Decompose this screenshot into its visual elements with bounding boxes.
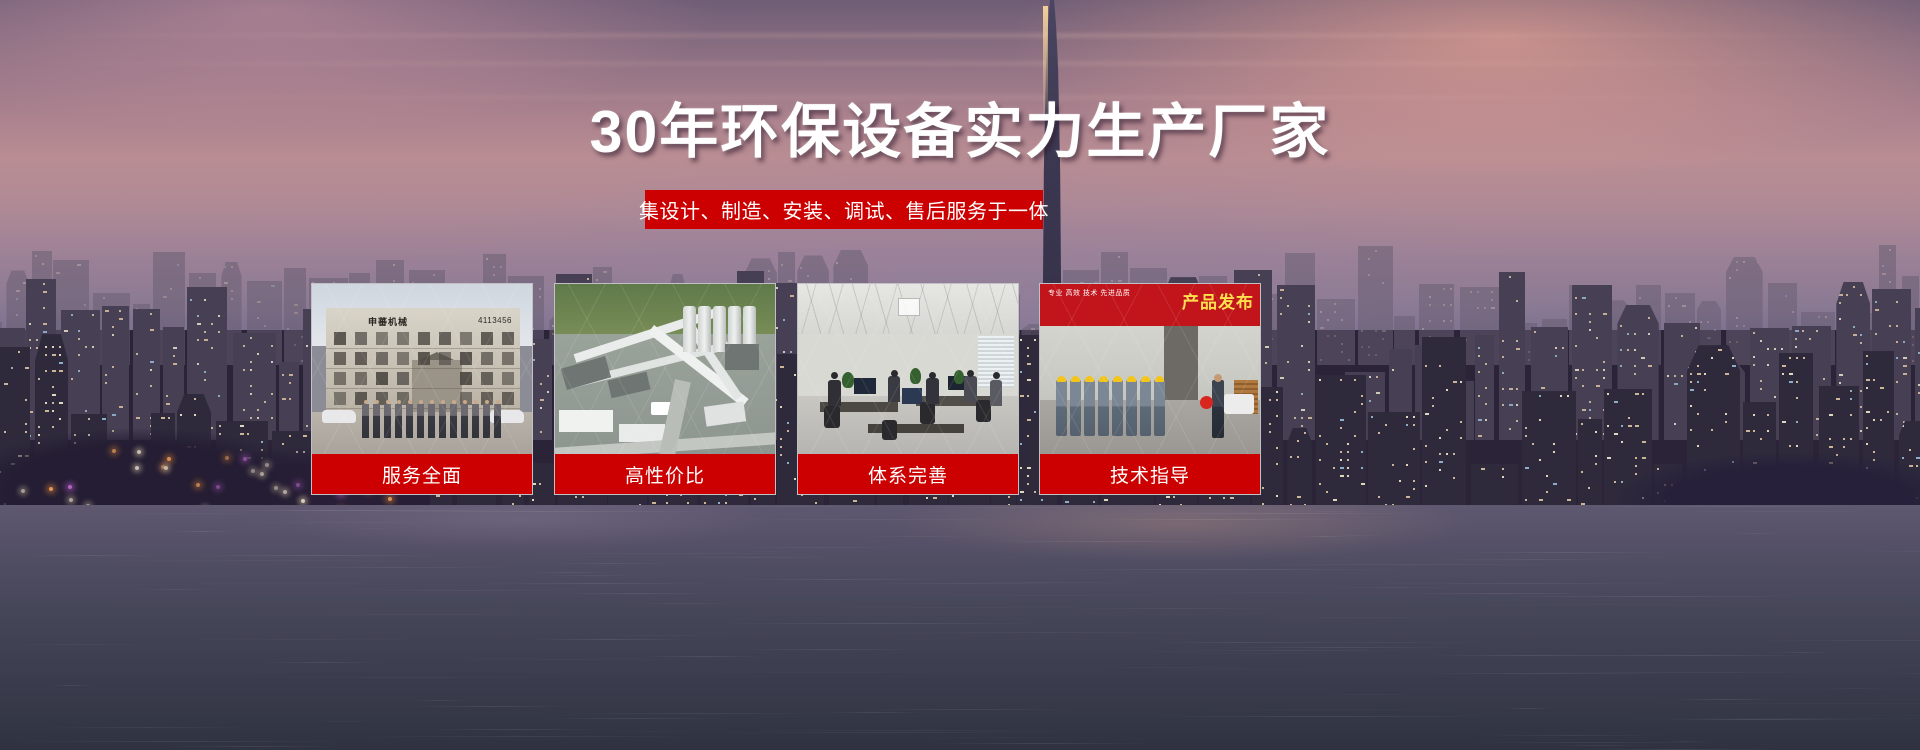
building-phone: 4113456: [478, 316, 512, 325]
feature-card-guidance[interactable]: 产品发布 专业 高效 技术 先进品质 技术指导: [1039, 283, 1261, 495]
card-label-text: 技术指导: [1110, 461, 1190, 488]
workshop-banner-text: 产品发布: [1182, 288, 1254, 313]
water-reflection-glow: [0, 505, 1920, 595]
building-sign: 申蕃机械: [368, 316, 464, 327]
hero-subtitle-bar: 集设计、制造、安装、调试、售后服务于一体: [645, 190, 1043, 229]
workshop-banner: 产品发布 专业 高效 技术 先进品质: [1040, 284, 1260, 326]
card-photo-workshop: 产品发布 专业 高效 技术 先进品质: [1040, 284, 1260, 456]
hero-banner: 30年环保设备实力生产厂家 集设计、制造、安装、调试、售后服务于一体 申蕃机械 …: [0, 0, 1920, 750]
card-label-system: 体系完善: [798, 454, 1018, 494]
hero-headline: 30年环保设备实力生产厂家: [0, 103, 1920, 162]
card-photo-office-interior: [798, 284, 1018, 456]
card-label-service: 服务全面: [312, 454, 532, 494]
card-label-text: 高性价比: [625, 461, 705, 488]
card-label-guidance: 技术指导: [1040, 454, 1260, 494]
card-photo-office-building: 申蕃机械 4113456: [312, 284, 532, 456]
feature-card-value[interactable]: 高性价比: [554, 283, 776, 495]
card-label-text: 服务全面: [382, 461, 462, 488]
feature-card-system[interactable]: 体系完善: [797, 283, 1019, 495]
card-photo-plant-aerial: [555, 284, 775, 456]
hero-subtitle-text: 集设计、制造、安装、调试、售后服务于一体: [639, 195, 1049, 224]
feature-card-service[interactable]: 申蕃机械 4113456 服务全面: [311, 283, 533, 495]
workshop-banner-subtext: 专业 高效 技术 先进品质: [1048, 289, 1130, 298]
card-label-value: 高性价比: [555, 454, 775, 494]
card-label-text: 体系完善: [868, 461, 948, 488]
feature-card-list: 申蕃机械 4113456 服务全面: [311, 283, 1261, 495]
